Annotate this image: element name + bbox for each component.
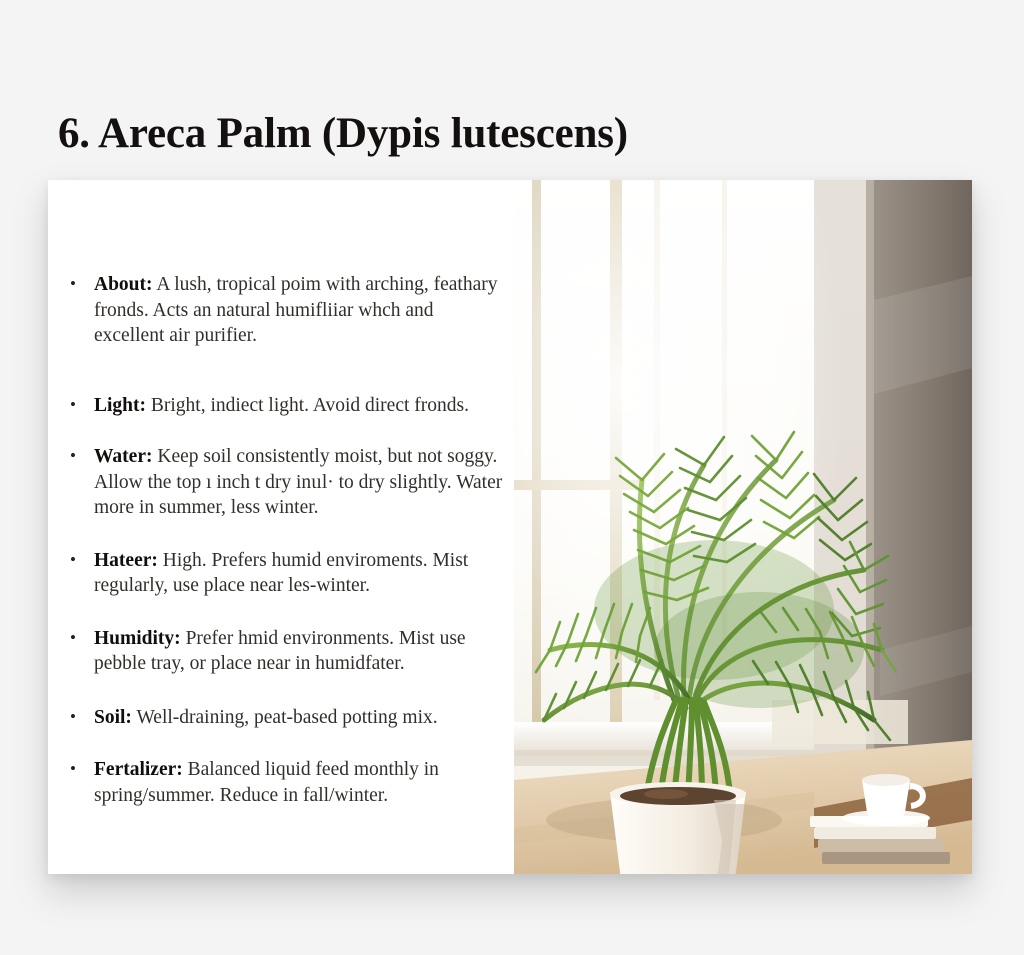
list-item: About: A lush, tropical poim with archin… (62, 272, 506, 349)
card-text-column: About: A lush, tropical poim with archin… (48, 180, 514, 874)
bullet-label-soil: Soil: (94, 707, 132, 728)
list-item: Water: Keep soil consistently moist, but… (62, 444, 506, 521)
areca-palm-illustration (514, 180, 972, 874)
bullet-text-light: Bright, indiect light. Avoid direct fron… (146, 395, 469, 416)
plant-care-card: About: A lush, tropical poim with archin… (48, 180, 972, 874)
bullet-label-water: Water: (94, 446, 152, 467)
care-bullet-list: About: A lush, tropical poim with archin… (62, 272, 506, 808)
bullet-text-soil: Well-draining, peat-based potting mix. (132, 707, 438, 728)
bullet-label-humidity: Humidity: (94, 628, 181, 649)
page-title: 6. Areca Palm (Dypis lutescens) (58, 109, 628, 158)
bullet-label-light: Light: (94, 395, 146, 416)
list-item: Hateer: High. Prefers humid enviroments.… (62, 548, 506, 599)
list-item: Soil: Well-draining, peat-based potting … (62, 705, 506, 731)
bullet-label-hateer: Hateer: (94, 550, 158, 571)
list-item: Humidity: Prefer hmid environments. Mist… (62, 626, 506, 677)
list-item: Light: Bright, indiect light. Avoid dire… (62, 393, 506, 419)
bullet-text-water: Keep soil consistently moist, but not so… (94, 446, 502, 518)
areca-palm-photo (514, 180, 972, 874)
page-background: 6. Areca Palm (Dypis lutescens) About: A… (0, 0, 1024, 955)
bullet-text-about: A lush, tropical poim with arching, feat… (94, 274, 497, 346)
bullet-label-about: About: (94, 274, 153, 295)
bullet-label-fertalizer: Fertalizer: (94, 759, 183, 780)
list-item: Fertalizer: Balanced liquid feed monthly… (62, 757, 506, 808)
